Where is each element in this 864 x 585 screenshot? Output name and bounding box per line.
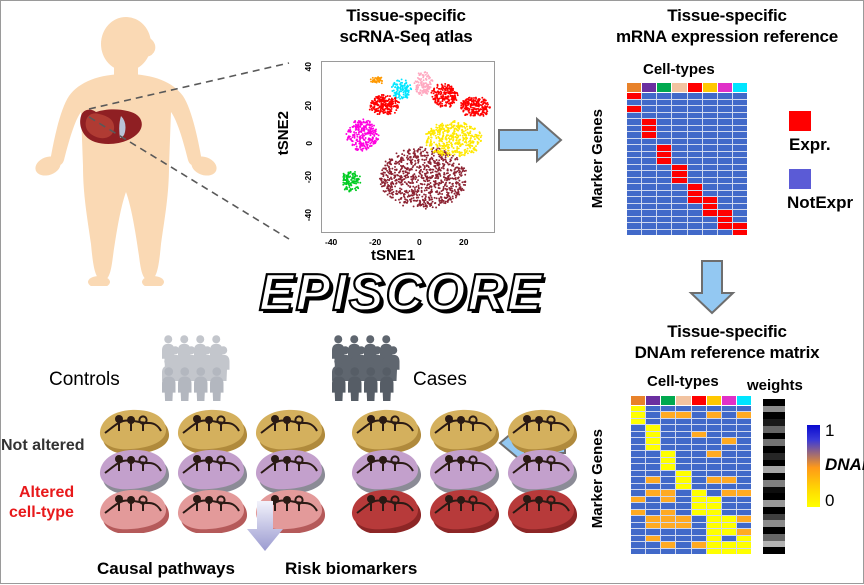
mrna-cell	[688, 113, 702, 119]
dnam-cell	[707, 523, 721, 528]
mrna-col-header-7	[733, 83, 747, 92]
mrna-cell	[733, 100, 747, 106]
mrna-cell	[688, 119, 702, 125]
dnam-weights-title: weights	[747, 377, 803, 394]
mrna-cell	[703, 165, 717, 171]
dnam-cell	[646, 536, 660, 541]
dnam-cell	[661, 510, 675, 515]
dnam-cell	[661, 438, 675, 443]
dnam-cell	[722, 536, 736, 541]
dnam-panel-title: Tissue-specific DNAm reference matrix	[589, 321, 864, 363]
dnam-cell	[737, 529, 751, 534]
mrna-cell	[672, 223, 686, 229]
legend-label-notexpr: NotExpr	[787, 193, 853, 213]
mrna-cell	[703, 210, 717, 216]
mrna-cell	[672, 230, 686, 236]
mrna-cell	[627, 119, 641, 125]
dnam-cell	[631, 412, 645, 417]
mrna-cell	[672, 145, 686, 151]
mrna-cell	[657, 178, 671, 184]
mrna-col-header-4	[688, 83, 702, 92]
dnam-cell	[631, 471, 645, 476]
mrna-cell	[703, 223, 717, 229]
figure-canvas: Tissue-specific scRNA-Seq atlas Tissue-s…	[0, 0, 864, 584]
dnam-cell	[722, 451, 736, 456]
mrna-cell	[688, 126, 702, 132]
dnam-cell	[722, 464, 736, 469]
dnam-cell	[646, 412, 660, 417]
mrna-cell	[642, 210, 656, 216]
mrna-cell	[672, 113, 686, 119]
cell-icon-not-altered-top	[427, 409, 499, 453]
dnam-cell	[631, 438, 645, 443]
mrna-cell	[703, 230, 717, 236]
mrna-cell	[733, 145, 747, 151]
weight-bar	[763, 406, 785, 413]
dnam-cell	[676, 536, 690, 541]
dnam-cell	[631, 503, 645, 508]
dnam-cell	[661, 536, 675, 541]
mrna-cell	[672, 100, 686, 106]
mrna-cell	[657, 113, 671, 119]
dnam-cell	[707, 412, 721, 417]
mrna-cell	[627, 106, 641, 112]
dnam-cell	[707, 510, 721, 515]
dnam-cell	[646, 529, 660, 534]
dnam-cell	[692, 484, 706, 489]
scrnaseq-panel-title: Tissue-specific scRNA-Seq atlas	[291, 5, 521, 47]
weight-bar	[763, 520, 785, 527]
dnam-cell	[646, 503, 660, 508]
dnam-cell	[661, 516, 675, 521]
dnam-cell	[737, 477, 751, 482]
dnam-cell	[722, 510, 736, 515]
dnam-cell	[722, 490, 736, 495]
mrna-cell	[718, 93, 732, 99]
dnam-cell	[737, 549, 751, 554]
dnam-cell	[646, 432, 660, 437]
dnam-title-line2: DNAm reference matrix	[589, 342, 864, 363]
dnam-cell	[676, 412, 690, 417]
cell-icon-not-altered-top	[175, 409, 247, 453]
dnam-cell	[737, 542, 751, 547]
dnam-cell	[676, 458, 690, 463]
colorbar-title: DNAm	[825, 455, 864, 475]
mrna-cell	[627, 230, 641, 236]
dnam-cell	[676, 484, 690, 489]
tsne-ylabel: tSNE2	[275, 111, 292, 155]
dnam-cell	[676, 490, 690, 495]
dnam-cell	[646, 523, 660, 528]
row-label-altered: Altered	[19, 484, 74, 502]
dnam-cell	[676, 529, 690, 534]
dnam-cell	[676, 503, 690, 508]
mrna-cell	[627, 152, 641, 158]
weight-bar	[763, 439, 785, 446]
mrna-cell	[688, 132, 702, 138]
dnam-cell	[646, 490, 660, 495]
tsne-yticks: 40 20 0 -20 -40	[299, 59, 321, 231]
mrna-rowtitle: Marker Genes	[589, 109, 606, 208]
mrna-cell	[627, 178, 641, 184]
mrna-cell	[642, 139, 656, 145]
dnam-cell	[722, 406, 736, 411]
dnam-cell	[692, 536, 706, 541]
mrna-cell	[733, 93, 747, 99]
dnam-cell	[646, 445, 660, 450]
dnam-cell	[707, 425, 721, 430]
dnam-cell	[737, 432, 751, 437]
mrna-cell	[703, 132, 717, 138]
arrow-mrna-to-dnam	[688, 259, 736, 320]
mrna-cell	[642, 126, 656, 132]
arrow-cohort-to-outputs	[245, 501, 285, 558]
dnam-cell	[646, 406, 660, 411]
mrna-cell	[672, 93, 686, 99]
mrna-cell	[627, 184, 641, 190]
dnam-cell	[707, 542, 721, 547]
dnam-cell	[661, 484, 675, 489]
weight-bar	[763, 466, 785, 473]
mrna-cell	[733, 126, 747, 132]
mrna-cell	[733, 178, 747, 184]
mrna-cell	[657, 126, 671, 132]
dnam-cell	[646, 497, 660, 502]
cases-label: Cases	[413, 369, 467, 391]
mrna-heatmap-grid	[627, 93, 747, 235]
dnam-cell	[676, 542, 690, 547]
weight-bar	[763, 541, 785, 548]
dnam-cell	[707, 536, 721, 541]
dnam-cell	[737, 464, 751, 469]
dnam-column-header	[631, 396, 751, 405]
dnam-cell	[676, 432, 690, 437]
weight-bar	[763, 507, 785, 514]
mrna-cell	[627, 145, 641, 151]
dnam-cell	[707, 503, 721, 508]
mrna-cell	[718, 106, 732, 112]
dnam-cell	[631, 406, 645, 411]
dnam-cell	[692, 542, 706, 547]
dnam-cell	[722, 477, 736, 482]
weight-bar	[763, 500, 785, 507]
legend-label-expr: Expr.	[789, 135, 831, 155]
weight-bar	[763, 527, 785, 534]
dnam-heatmap-grid	[631, 406, 751, 554]
mrna-cell	[688, 184, 702, 190]
mrna-cell	[657, 217, 671, 223]
mrna-cell	[657, 197, 671, 203]
row-label-not-altered: Not altered	[1, 437, 85, 455]
mrna-cell	[642, 230, 656, 236]
dnam-cell	[722, 523, 736, 528]
dnam-cell	[646, 464, 660, 469]
mrna-cell	[642, 145, 656, 151]
dnam-cell	[722, 412, 736, 417]
dnam-cell	[661, 497, 675, 502]
dnam-cell	[631, 490, 645, 495]
mrna-cell	[703, 171, 717, 177]
weight-bar	[763, 487, 785, 494]
mrna-cell	[703, 191, 717, 197]
mrna-cell	[733, 204, 747, 210]
cell-icon-not-altered-top	[349, 409, 421, 453]
mrna-cell	[733, 197, 747, 203]
mrna-cell	[718, 210, 732, 216]
mrna-cell	[688, 223, 702, 229]
dnam-cell	[692, 503, 706, 508]
mrna-cell	[688, 152, 702, 158]
mrna-cell	[703, 119, 717, 125]
mrna-cell	[657, 145, 671, 151]
mrna-cell	[703, 100, 717, 106]
mrna-cell	[657, 152, 671, 158]
mrna-cell	[642, 100, 656, 106]
dnam-cell	[707, 458, 721, 463]
mrna-cell	[642, 217, 656, 223]
dnam-cell	[631, 497, 645, 502]
dnam-cell	[707, 471, 721, 476]
dnam-cell	[737, 445, 751, 450]
dnam-cell	[676, 425, 690, 430]
dnam-cell	[661, 406, 675, 411]
mrna-col-header-1	[642, 83, 656, 92]
mrna-cell	[627, 165, 641, 171]
weight-bar	[763, 399, 785, 406]
mrna-cell	[642, 191, 656, 197]
mrna-cell	[733, 210, 747, 216]
mrna-cell	[703, 184, 717, 190]
mrna-cell	[657, 204, 671, 210]
mrna-cell	[733, 158, 747, 164]
cell-icon-altered-cell-type	[349, 489, 421, 533]
weight-bar	[763, 446, 785, 453]
dnam-cell	[692, 445, 706, 450]
weight-bar	[763, 534, 785, 541]
mrna-title-line2: mRNA expression reference	[589, 26, 864, 47]
mrna-cell	[657, 100, 671, 106]
mrna-cell	[627, 217, 641, 223]
mrna-cell	[718, 139, 732, 145]
dnam-cell	[631, 458, 645, 463]
dnam-cell	[661, 445, 675, 450]
dnam-cell	[661, 412, 675, 417]
dnam-cell	[646, 451, 660, 456]
mrna-cell	[688, 165, 702, 171]
mrna-cell	[642, 223, 656, 229]
dnam-cell	[707, 516, 721, 521]
dnam-cell	[692, 458, 706, 463]
weight-bar	[763, 547, 785, 554]
dnam-cell	[692, 549, 706, 554]
dnam-cell	[722, 438, 736, 443]
dnam-cell	[631, 419, 645, 424]
dnam-cell	[707, 419, 721, 424]
dnam-col-header-6	[722, 396, 736, 405]
mrna-cell	[718, 230, 732, 236]
mrna-cell	[642, 197, 656, 203]
mrna-cell	[657, 184, 671, 190]
mrna-cell	[672, 152, 686, 158]
mrna-cell	[642, 132, 656, 138]
dnam-cell	[707, 477, 721, 482]
dnam-cell	[722, 471, 736, 476]
mrna-cell	[642, 152, 656, 158]
mrna-cell	[627, 100, 641, 106]
mrna-cell	[657, 171, 671, 177]
tsne-xlabel: tSNE1	[371, 247, 415, 264]
dnam-cell	[722, 516, 736, 521]
mrna-cell	[642, 165, 656, 171]
dnam-cell	[737, 438, 751, 443]
mrna-col-header-0	[627, 83, 641, 92]
dnam-cell	[646, 438, 660, 443]
colorbar-max-label: 1	[825, 421, 834, 441]
output-label-causal-pathways: Causal pathways	[97, 559, 235, 579]
mrna-cell	[703, 217, 717, 223]
mrna-cell	[642, 204, 656, 210]
cell-icon-not-altered-mid	[175, 449, 247, 493]
cell-icon-not-altered-top	[505, 409, 577, 453]
dnam-cell	[737, 503, 751, 508]
mrna-cell	[627, 113, 641, 119]
dnam-cell	[737, 510, 751, 515]
dnam-cell	[631, 464, 645, 469]
mrna-cell	[672, 171, 686, 177]
mrna-cell	[703, 204, 717, 210]
dnam-cell	[661, 419, 675, 424]
cell-icon-altered-cell-type	[97, 489, 169, 533]
mrna-cell	[657, 139, 671, 145]
mrna-cell	[688, 171, 702, 177]
cell-icon-altered-cell-type	[427, 489, 499, 533]
weight-bar	[763, 453, 785, 460]
dnam-cell	[676, 549, 690, 554]
dnam-cell	[676, 510, 690, 515]
colorbar-min-label: 0	[825, 491, 834, 511]
mrna-cell	[657, 230, 671, 236]
cell-icon-not-altered-mid	[427, 449, 499, 493]
weight-bar	[763, 460, 785, 467]
mrna-cell	[672, 204, 686, 210]
dnam-cell	[737, 419, 751, 424]
mrna-cell	[642, 113, 656, 119]
mrna-cell	[672, 165, 686, 171]
mrna-cell	[688, 158, 702, 164]
mrna-cell	[703, 197, 717, 203]
dnam-cell	[646, 471, 660, 476]
dnam-cell	[737, 484, 751, 489]
mrna-cell	[642, 93, 656, 99]
mrna-cell	[733, 184, 747, 190]
dnam-cell	[737, 523, 751, 528]
mrna-cell	[688, 191, 702, 197]
mrna-cell	[627, 204, 641, 210]
scrnaseq-title-line2: scRNA-Seq atlas	[291, 26, 521, 47]
dnam-cell	[722, 445, 736, 450]
mrna-cell	[733, 217, 747, 223]
row-label-cell-type: cell-type	[9, 504, 74, 522]
dnam-cell	[631, 536, 645, 541]
dnam-cell	[631, 477, 645, 482]
mrna-cell	[718, 171, 732, 177]
mrna-panel-title: Tissue-specific mRNA expression referenc…	[589, 5, 864, 47]
cell-grid	[97, 409, 497, 529]
mrna-cell	[657, 106, 671, 112]
dnam-cell	[631, 484, 645, 489]
dnam-cell	[692, 451, 706, 456]
mrna-cell	[642, 158, 656, 164]
mrna-cell	[718, 191, 732, 197]
cell-icon-altered-cell-type	[505, 489, 577, 533]
dnam-cell	[661, 451, 675, 456]
mrna-cell	[672, 210, 686, 216]
dnam-col-header-2	[661, 396, 675, 405]
dnam-cell	[707, 529, 721, 534]
weight-bar	[763, 473, 785, 480]
mrna-col-header-3	[672, 83, 686, 92]
dnam-heatmap-panel: Cell-types weights Marker Genes 1 DNAm 0	[581, 373, 864, 573]
dnam-cell	[707, 484, 721, 489]
dnam-cell	[631, 510, 645, 515]
cell-icon-altered-cell-type	[175, 489, 247, 533]
dnam-cell	[692, 419, 706, 424]
dnam-cell	[722, 497, 736, 502]
dnam-cell	[661, 432, 675, 437]
dnam-cell	[631, 425, 645, 430]
dnam-cell	[707, 490, 721, 495]
mrna-cell	[718, 119, 732, 125]
dnam-cell	[661, 529, 675, 534]
dnam-cell	[631, 523, 645, 528]
dnam-cell	[737, 490, 751, 495]
dnam-cell	[692, 497, 706, 502]
mrna-col-header-5	[703, 83, 717, 92]
dnam-weights-strip	[763, 399, 785, 554]
mrna-cell	[733, 106, 747, 112]
dnam-col-header-4	[692, 396, 706, 405]
legend-swatch-notexpr	[789, 169, 811, 189]
dnam-cell	[707, 464, 721, 469]
dnam-col-header-3	[676, 396, 690, 405]
scrnaseq-title-line1: Tissue-specific	[291, 5, 521, 26]
dnam-cell	[692, 464, 706, 469]
dnam-cell	[631, 529, 645, 534]
dnam-cell	[631, 516, 645, 521]
mrna-cell	[733, 139, 747, 145]
legend-swatch-expr	[789, 111, 811, 131]
mrna-cell	[718, 113, 732, 119]
dnam-col-header-0	[631, 396, 645, 405]
dnam-cell	[646, 510, 660, 515]
weight-bar	[763, 426, 785, 433]
dnam-cell	[631, 542, 645, 547]
mrna-cell	[733, 132, 747, 138]
dnam-cell	[692, 510, 706, 515]
dnam-cell	[676, 445, 690, 450]
mrna-cell	[733, 113, 747, 119]
cell-icon-not-altered-mid	[97, 449, 169, 493]
dnam-cell	[737, 451, 751, 456]
colorbar-gradient	[807, 425, 820, 507]
dnam-cell	[722, 484, 736, 489]
mrna-cell	[688, 217, 702, 223]
dnam-cell	[737, 412, 751, 417]
dnam-coltitle: Cell-types	[647, 373, 719, 390]
mrna-cell	[627, 191, 641, 197]
dnam-cell	[692, 477, 706, 482]
dnam-cell	[722, 503, 736, 508]
